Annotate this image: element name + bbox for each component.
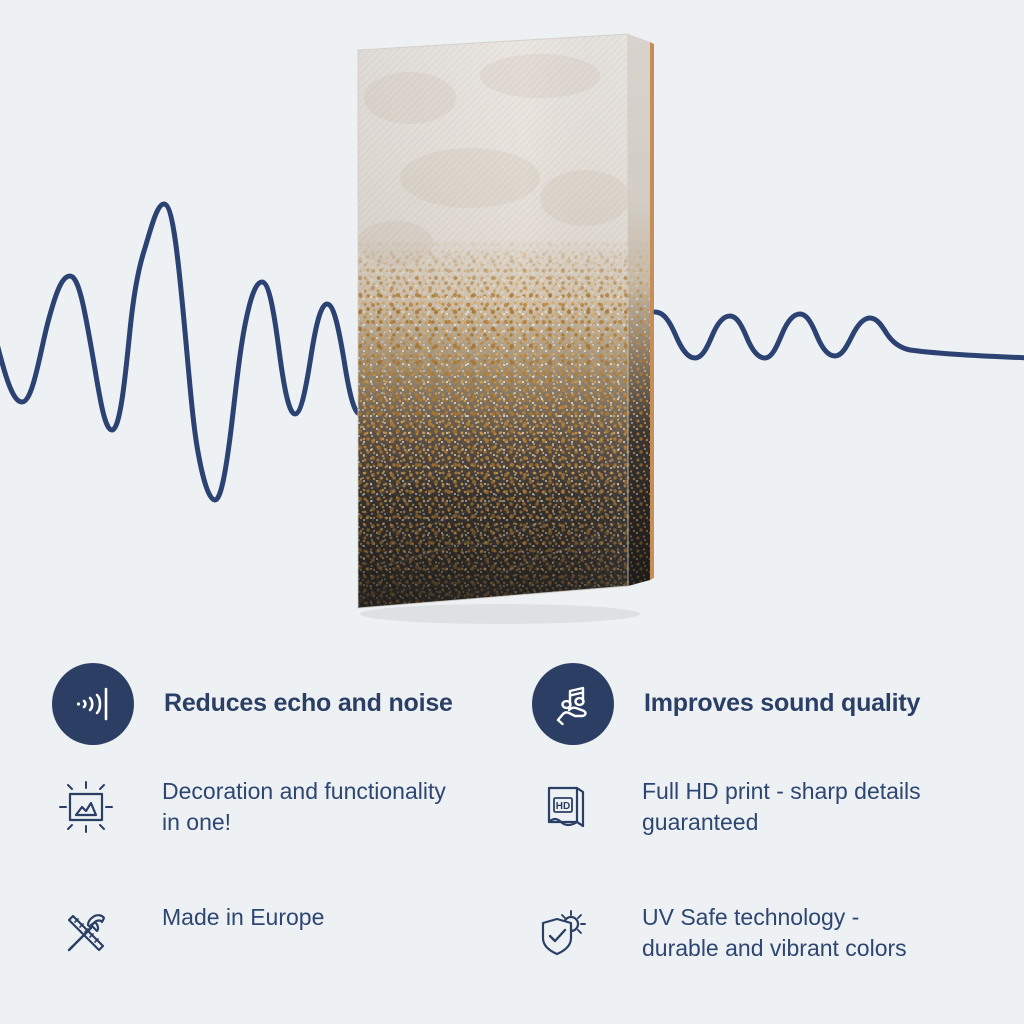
feature-label: Made in Europe bbox=[162, 900, 324, 933]
hand-with-music-notes-icon bbox=[532, 663, 614, 745]
framed-picture-shining-icon bbox=[52, 774, 120, 840]
feature-label: Full HD print - sharp details guaranteed bbox=[642, 774, 921, 837]
feature-item-made-in-europe: Made in Europe bbox=[52, 886, 512, 1012]
feature-label: UV Safe technology - durable and vibrant… bbox=[642, 900, 907, 963]
svg-text:HD: HD bbox=[556, 801, 570, 812]
feature-item-reduces-echo: Reduces echo and noise bbox=[52, 648, 512, 760]
feature-list: Reduces echo and noise bbox=[0, 640, 1024, 1024]
feature-label: Decoration and functionality in one! bbox=[162, 774, 446, 837]
ruler-and-hammer-icon bbox=[52, 900, 120, 966]
product-feature-infographic: Reduces echo and noise bbox=[0, 0, 1024, 1024]
acoustic-canvas-panel bbox=[350, 28, 670, 648]
canvas-front-face bbox=[350, 28, 670, 648]
sound-waves-absorbed-icon bbox=[52, 663, 134, 745]
feature-item-improves-sound: Improves sound quality bbox=[532, 648, 992, 760]
feature-label: Reduces echo and noise bbox=[164, 688, 453, 719]
hd-print-icon: HD bbox=[532, 774, 600, 840]
feature-item-hd-print: HD Full HD print - sharp details guarant… bbox=[532, 760, 992, 886]
hero-section bbox=[0, 0, 1024, 640]
feature-item-uv-safe: UV Safe technology - durable and vibrant… bbox=[532, 886, 992, 1012]
shield-check-sun-icon bbox=[532, 900, 600, 966]
feature-label: Improves sound quality bbox=[644, 688, 920, 719]
feature-item-decoration: Decoration and functionality in one! bbox=[52, 760, 512, 886]
